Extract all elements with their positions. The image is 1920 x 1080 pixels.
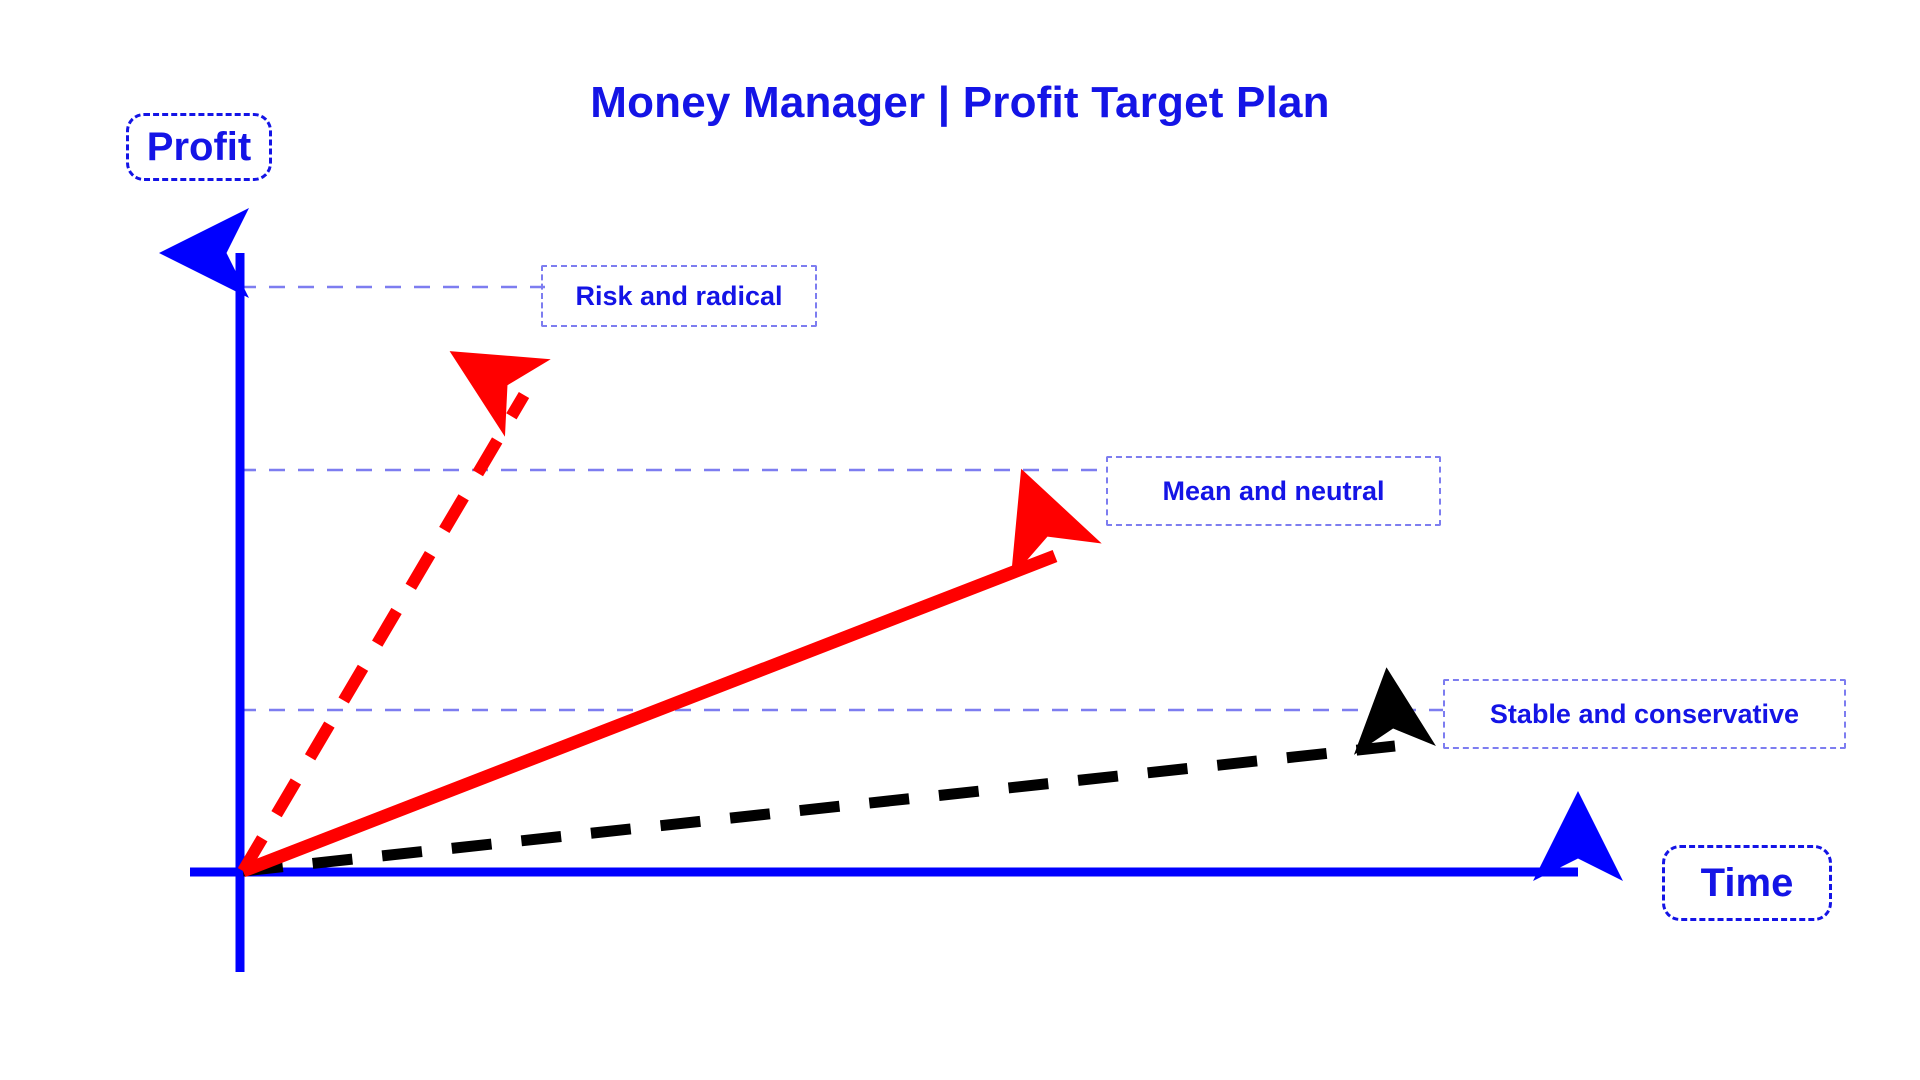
x-axis-label-time: Time: [1662, 845, 1832, 921]
series-line-risk-and-radical: [243, 395, 524, 871]
diagram-canvas: Money Manager | Profit Target Plan Profi…: [0, 0, 1920, 1080]
series-label-stable-and-conservative: Stable and conservative: [1443, 679, 1846, 749]
series-line-mean-and-neutral: [243, 556, 1055, 871]
y-axis-label-profit: Profit: [126, 113, 272, 181]
diagram-vector-layer: [0, 0, 1920, 1080]
series-label-mean-and-neutral: Mean and neutral: [1106, 456, 1441, 526]
series-label-risk-and-radical: Risk and radical: [541, 265, 817, 327]
